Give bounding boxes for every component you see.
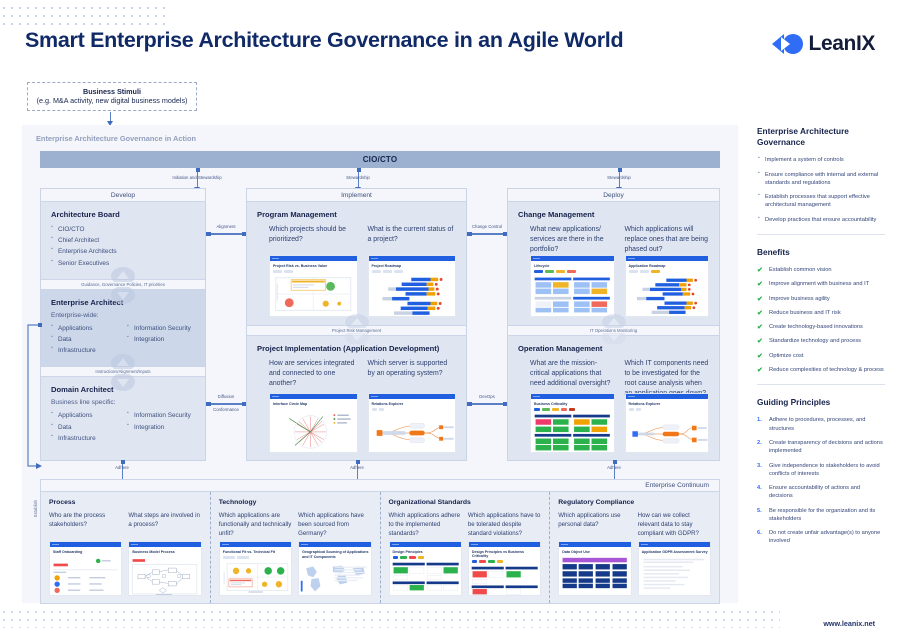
role-title: Architecture Board [51,210,195,219]
section-title: Operation Management [518,344,709,353]
thumbnail-title: Relations Explorer [629,402,709,406]
column-deploy-head: Deploy [508,189,719,202]
connector-label-adhere-2: Adhere [350,465,364,470]
role-bullet: Data [51,334,119,345]
check-icon: ✔ [757,280,763,290]
sidebar-benefit-item: ✔Create technology-based innovations [757,323,885,331]
question-text: How can we collect relevant data to stay… [638,512,711,538]
thumbnail-design-principles-criticality[interactable]: Design Principles vs Business Criticalit… [468,541,541,596]
question-text: Who are the process stakeholders? [49,512,122,538]
band-separator-it-operations: IT Operations Monitoring [508,325,719,336]
thumbnail-title: Interface Circle Map [273,402,357,406]
role-bullet: Infrastructure [51,345,119,356]
establish-loop-connector [22,320,46,472]
sidebar-section-title-governance: Enterprise Architecture Governance [757,126,885,148]
continuum-cell-title: Regulatory Compliance [558,499,711,506]
thumbnail-design-principles[interactable]: Design Principles [389,541,462,596]
connector-label-conformance: Conformance [213,407,239,412]
section-program-management: Program Management Which projects should… [247,202,466,325]
role-subtitle: Business line specific: [51,399,195,406]
connector-label-alignment: Alignment [216,224,235,229]
sidebar-divider [757,384,885,385]
separator-label: Project Risk Management [329,328,384,333]
role-bullet: Applications [51,410,119,421]
thumbnail-staff-onboarding[interactable]: Staff Onboarding [49,541,122,596]
thumbnail-lifecycle[interactable]: Lifecycle [530,255,615,317]
connector-label-stewardship-1: Stewardship [346,175,370,180]
connector-label-adhere-3: Adhere [607,465,621,470]
question-text: Which applications use personal data? [558,512,631,538]
business-stimuli-subtitle: (e.g. M&A activity, new digital business… [33,96,191,105]
thumbnail-relations-explorer[interactable]: Relations Explorer [368,393,457,453]
question-text: Which server is supported by an operatin… [368,359,457,390]
question-text: What new applications/ services are ther… [530,225,615,251]
sidebar-principle-item: 1.Adhere to procedures, processes, and s… [757,416,885,433]
connector-label-adhere-1: Adhere [115,465,129,470]
role-bullet: Applications [51,323,119,334]
continuum-body: Process Who are the process stakeholders… [40,492,720,604]
sidebar-principle-item: 5.Be responsible for the organization an… [757,507,885,524]
sidebar-list-item: Establish processes that support effecti… [757,193,885,210]
question-text: What steps are involved in a process? [128,512,201,538]
sidebar-list-item: Ensure compliance with internal and exte… [757,171,885,188]
separator-label: Guidance, Governance Policies, IT priori… [78,282,168,287]
sidebar-benefit-item: ✔Reduce business and IT risk [757,309,885,317]
question-text: Which applications have been sourced fro… [298,512,371,538]
check-icon: ✔ [757,309,763,319]
decorative-dots-top-left [0,4,170,30]
thumbnail-title: Data Object Use [562,550,630,554]
sidebar-principle-item: 2.Create transparency of decisions and a… [757,439,885,456]
stimuli-arrow-icon [110,112,111,124]
cio-cto-bar: CIO/CTO [40,151,720,168]
section-change-management: Change Management What new applications/… [508,202,719,325]
connector-label-change-control: Change Control [472,224,502,229]
thumbnail-interface-circle-map[interactable]: Interface Circle Map [269,393,358,453]
thumbnail-project-risk-business-value[interactable]: Project Risk vs. Business Value [269,255,358,317]
role-bullet: Information Security [127,410,195,421]
role-subtitle: Enterprise-wide: [51,312,195,319]
continuum-cell-title: Process [49,499,202,506]
leanix-logo: LeanIX [772,32,875,56]
role-bullet: Infrastructure [51,433,119,444]
role-bullet: Enterprise Architects [51,246,195,257]
thumbnail-title: Functional Fit vs. Technical Fit [223,550,291,554]
sidebar: Enterprise Architecture Governance Imple… [757,126,885,552]
sidebar-section-title-principles: Guiding Principles [757,397,885,408]
thumbnail-title: Business Model Process [132,550,200,554]
check-icon: ✔ [757,352,763,362]
sidebar-principle-item: 4.Ensure accountability of actions and d… [757,484,885,501]
page-title: Smart Enterprise Architecture Governance… [25,28,623,53]
thumbnail-business-model-process[interactable]: Business Model Process [128,541,201,596]
question-text: How are services integrated and connecte… [269,359,358,390]
continuum-head: Enterprise Continuum [40,479,720,492]
continuum-cell-organizational-standards: Organizational Standards Which applicati… [381,492,551,603]
thumbnail-title: Project Roadmap [372,264,456,268]
check-icon: ✔ [757,366,763,376]
sidebar-divider [757,234,885,235]
separator-label: IT Operations Monitoring [587,328,640,333]
list-number: 6. [757,529,762,537]
thumbnail-title: Lifecycle [534,264,614,268]
thumbnail-title: Design Principles vs Business Criticalit… [472,550,540,558]
role-bullet: Information Security [127,323,195,334]
thumbnail-project-roadmap[interactable]: Project Roadmap [368,255,457,317]
sidebar-list-item: Develop practices that ensure accountabi… [757,216,885,224]
check-icon: ✔ [757,337,763,347]
sidebar-benefit-item: ✔Improve alignment with business and IT [757,280,885,288]
question-text: Which applications are functionally and … [219,512,292,538]
list-number: 4. [757,484,762,492]
column-implement: Implement Program Management Which proje… [246,188,467,461]
business-stimuli-title: Business Stimuli [33,87,191,96]
section-title: Program Management [257,210,456,219]
business-stimuli-box: Business Stimuli (e.g. M&A activity, new… [27,82,197,111]
section-project-implementation: Project Implementation (Application Deve… [247,336,466,461]
band-separator-project-risk: Project Risk Management [247,325,466,336]
connector-implement-deploy-devops [469,403,505,405]
footer-url[interactable]: www.leanix.net [823,619,875,628]
question-text: Which IT components need to be investiga… [625,359,710,390]
decorative-dots-bottom-left [0,608,780,628]
continuum-cell-regulatory-compliance: Regulatory Compliance Which applications… [550,492,719,603]
thumbnail-title: Relations Explorer [372,402,456,406]
continuum-cell-process: Process Who are the process stakeholders… [41,492,211,603]
leanix-logo-text: LeanIX [809,32,875,56]
canvas-label: Enterprise Architecture Governance in Ac… [36,134,196,143]
sidebar-principle-item: 6.Do not create unfair advantage(s) to a… [757,529,885,546]
column-implement-head: Implement [247,189,466,202]
thumbnail-title: Geographical Sourcing of Applications an… [302,550,370,559]
sidebar-section-title-benefits: Benefits [757,247,885,258]
section-title: Project Implementation (Application Deve… [257,344,456,353]
sidebar-benefit-item: ✔Reduce complexities of technology & pro… [757,366,885,374]
column-deploy: Deploy Change Management What new applic… [507,188,720,461]
role-bullet: Chief Architect [51,235,195,246]
continuum-cell-technology: Technology Which applications are functi… [211,492,381,603]
sidebar-principle-item: 3.Give independence to stakeholders to a… [757,462,885,479]
thumbnail-title: Application GDPR Assessment Survey [642,550,710,554]
role-bullet: CIO/CTO [51,224,195,235]
sidebar-list-item: Implement a system of controls [757,156,885,164]
thumbnail-data-object-use[interactable]: Data Object Use [558,541,631,596]
governance-canvas: Enterprise Architecture Governance in Ac… [22,125,738,603]
band-separator-guidance: Guidance, Governance Policies, IT priori… [41,279,205,290]
band-separator-instructions: Instructions/Alignment/Inputs [41,366,205,377]
question-text: Which projects should be prioritized? [269,225,358,251]
thumbnail-title: Design Principles [393,550,461,554]
sidebar-benefit-item: ✔Standardize technology and process [757,337,885,345]
sidebar-benefit-item: ✔Establish common vision [757,266,885,274]
thumbnail-relations-explorer-2[interactable]: Relations Explorer [625,393,710,453]
thumbnail-gdpr-survey[interactable]: Application GDPR Assessment Survey [638,541,711,596]
check-icon: ✔ [757,295,763,305]
connector-develop-implement-diffusion [208,403,244,405]
sidebar-benefit-item: ✔Improve business agility [757,295,885,303]
check-icon: ✔ [757,266,763,276]
sidebar-benefit-item: ✔Optimize cost [757,352,885,360]
connector-label-diffusion: Diffusion [218,394,235,399]
question-text: Which applications have to be tolerated … [468,512,541,538]
enterprise-continuum: Enterprise Continuum Process Who are the… [40,479,720,604]
separator-label: Instructions/Alignment/Inputs [92,369,153,374]
thumbnail-title: Project Risk vs. Business Value [273,264,357,268]
continuum-cell-title: Technology [219,499,372,506]
continuum-cell-title: Organizational Standards [389,499,542,506]
leanix-logo-icon [772,33,802,55]
connector-develop-implement-alignment [208,233,244,235]
establish-vertical-label: Establish [33,500,38,517]
check-icon: ✔ [757,323,763,333]
question-text: What are the mission-critical applicatio… [530,359,615,390]
connector-label-stewardship-2: Stewardship [607,175,631,180]
list-number: 3. [757,462,762,470]
list-number: 2. [757,439,762,447]
thumbnail-application-roadmap[interactable]: Application Roadmap [625,255,710,317]
role-bullet: Integration [127,422,195,433]
connector-label-devops: DevOps [479,394,495,399]
thumbnail-title: Application Roadmap [629,264,709,268]
thumbnail-functional-technical-fit[interactable]: Functional Fit vs. Technical Fit [219,541,292,596]
section-title: Change Management [518,210,709,219]
thumbnail-title: Business Criticality [534,402,614,406]
question-text: Which applications will replace ones tha… [625,225,710,251]
list-number: 1. [757,416,762,424]
column-develop-head: Develop [41,189,205,202]
connector-implement-deploy-change-control [469,233,505,235]
thumbnail-title: Staff Onboarding [53,550,121,554]
role-bullet: Data [51,422,119,433]
list-number: 5. [757,507,762,515]
column-develop: Develop Architecture Board CIO/CTO Chief… [40,188,206,461]
thumbnail-business-criticality[interactable]: Business Criticality [530,393,615,453]
role-bullet: Integration [127,334,195,345]
question-text: What is the current status of a project? [368,225,457,251]
section-operation-management: Operation Management What are the missio… [508,336,719,461]
connector-label-initiation: Initiation and Stewardship [172,175,221,180]
thumbnail-geographical-sourcing[interactable]: Geographical Sourcing of Applications an… [298,541,371,596]
question-text: Which applications adhere to the impleme… [389,512,462,538]
